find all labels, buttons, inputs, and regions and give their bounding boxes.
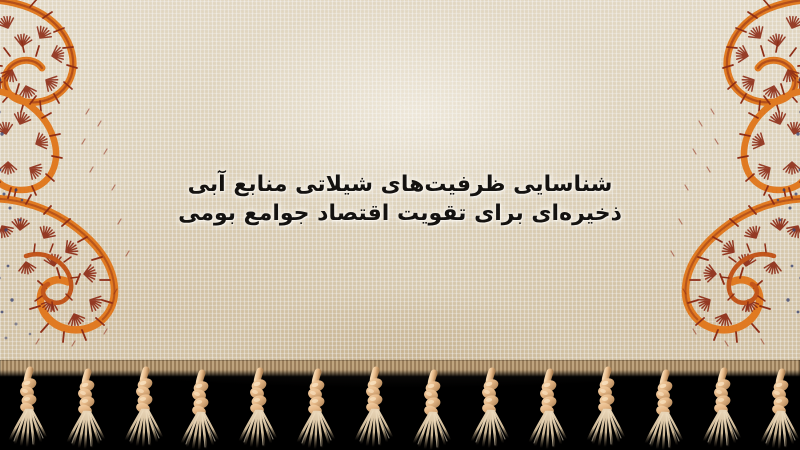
- slide-canvas: شناسایی ظرفیت‌های شیلاتی منابع آبی ذخیره…: [0, 0, 800, 450]
- knotted-tassel-fringe: [0, 360, 800, 450]
- bottom-black-band: [0, 360, 800, 450]
- paisley-boteh-corner-ornament-right: [564, 0, 800, 354]
- paisley-boteh-corner-ornament-left: [0, 0, 236, 354]
